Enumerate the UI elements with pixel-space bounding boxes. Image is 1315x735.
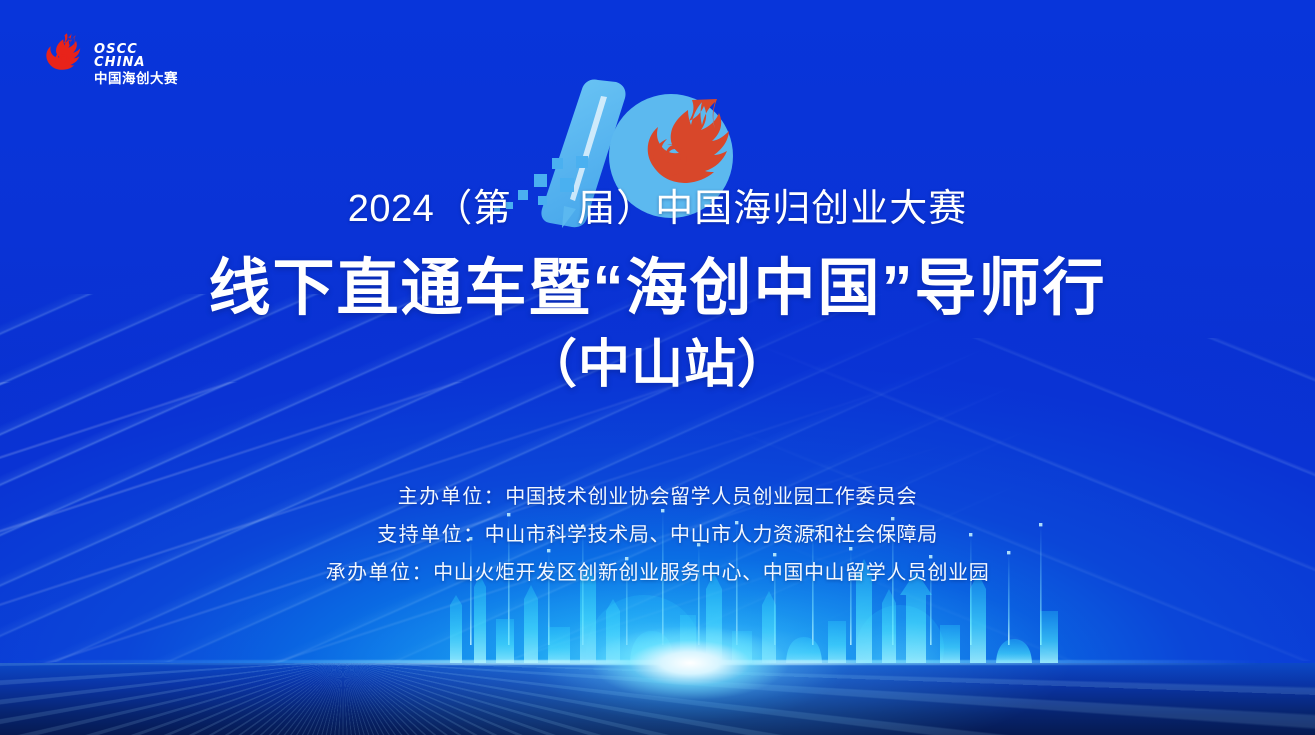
organizer-label: 支持单位：	[377, 524, 485, 546]
event-edition-suffix: 届）中国海归创业大赛	[577, 188, 967, 230]
organizer-row: 承办单位：中山火炬开发区创新创业服务中心、中国中山留学人员创业园	[0, 554, 1315, 592]
brand-logo[interactable]: OSCC CHINA 中国海创大赛	[34, 30, 184, 88]
organizer-value: 中国技术创业协会留学人员创业园工作委员会	[505, 486, 917, 508]
logo-wordmark: OSCC CHINA 中国海创大赛	[94, 33, 184, 86]
logo-english-text: OSCC CHINA	[94, 43, 184, 69]
organizer-row: 主办单位：中国技术创业协会留学人员创业园工作委员会	[0, 478, 1315, 516]
event-subtitle-line: 2024（第届）中国海归创业大赛	[0, 186, 1315, 234]
organizer-label: 主办单位：	[398, 486, 506, 508]
organizer-value: 中山火炬开发区创新创业服务中心、中国中山留学人员创业园	[433, 562, 989, 584]
title-block: 2024（第届）中国海归创业大赛 线下直通车暨“海创中国”导师行 （中山站）	[0, 186, 1315, 396]
horizon-glow-core	[530, 603, 850, 723]
organizer-value: 中山市科学技术局、中山市人力资源和社会保障局	[485, 524, 938, 546]
organizer-list: 主办单位：中国技术创业协会留学人员创业园工作委员会 支持单位：中山市科学技术局、…	[0, 478, 1315, 592]
event-poster: OSCC CHINA 中国海创大赛	[0, 0, 1315, 735]
event-edition-prefix: 2024（第	[348, 188, 512, 230]
logo-chinese-text: 中国海创大赛	[94, 72, 184, 86]
event-location-title: （中山站）	[0, 334, 1315, 396]
event-main-title: 线下直通车暨“海创中国”导师行	[0, 252, 1315, 326]
flame-swirl-logo-mark	[34, 33, 90, 85]
organizer-label: 承办单位：	[326, 562, 434, 584]
organizer-row: 支持单位：中山市科学技术局、中山市人力资源和社会保障局	[0, 516, 1315, 554]
